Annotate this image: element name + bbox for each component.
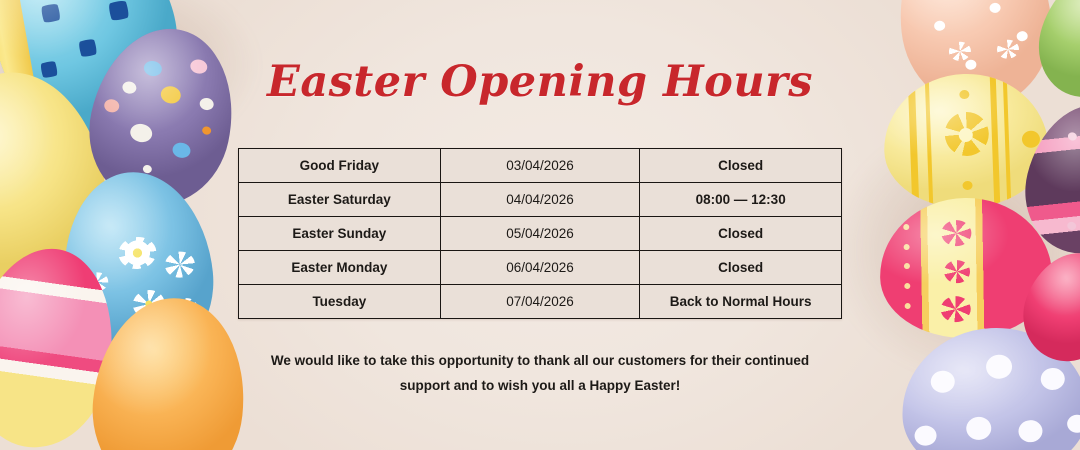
row-date-value: 06/04/2026 bbox=[440, 251, 640, 285]
row-day-label: Good Friday bbox=[239, 149, 441, 183]
row-day-label: Easter Sunday bbox=[239, 217, 441, 251]
opening-hours-table: Good Friday 03/04/2026 Closed Easter Sat… bbox=[238, 148, 842, 319]
banner-content: Easter Opening Hours Good Friday 03/04/2… bbox=[0, 0, 1080, 450]
page-title: Easter Opening Hours bbox=[0, 57, 1080, 107]
row-status-value: Closed bbox=[640, 251, 842, 285]
row-status-value: Back to Normal Hours bbox=[640, 285, 842, 319]
thank-you-line-2: support and to wish you all a Happy East… bbox=[190, 373, 890, 398]
row-date-value: 05/04/2026 bbox=[440, 217, 640, 251]
table-row: Good Friday 03/04/2026 Closed bbox=[239, 149, 842, 183]
thank-you-line-1: We would like to take this opportunity t… bbox=[190, 348, 890, 373]
easter-opening-hours-banner: Easter Opening Hours Good Friday 03/04/2… bbox=[0, 0, 1080, 450]
table-row: Easter Monday 06/04/2026 Closed bbox=[239, 251, 842, 285]
row-date-value: 03/04/2026 bbox=[440, 149, 640, 183]
table-row: Easter Sunday 05/04/2026 Closed bbox=[239, 217, 842, 251]
table-row: Tuesday 07/04/2026 Back to Normal Hours bbox=[239, 285, 842, 319]
row-day-label: Tuesday bbox=[239, 285, 441, 319]
row-day-label: Easter Monday bbox=[239, 251, 441, 285]
row-status-value: Closed bbox=[640, 217, 842, 251]
row-status-value: Closed bbox=[640, 149, 842, 183]
row-date-value: 04/04/2026 bbox=[440, 183, 640, 217]
table-row: Easter Saturday 04/04/2026 08:00 — 12:30 bbox=[239, 183, 842, 217]
thank-you-message: We would like to take this opportunity t… bbox=[190, 348, 890, 398]
row-date-value: 07/04/2026 bbox=[440, 285, 640, 319]
row-status-value: 08:00 — 12:30 bbox=[640, 183, 842, 217]
opening-hours-rows: Good Friday 03/04/2026 Closed Easter Sat… bbox=[239, 149, 842, 319]
row-day-label: Easter Saturday bbox=[239, 183, 441, 217]
